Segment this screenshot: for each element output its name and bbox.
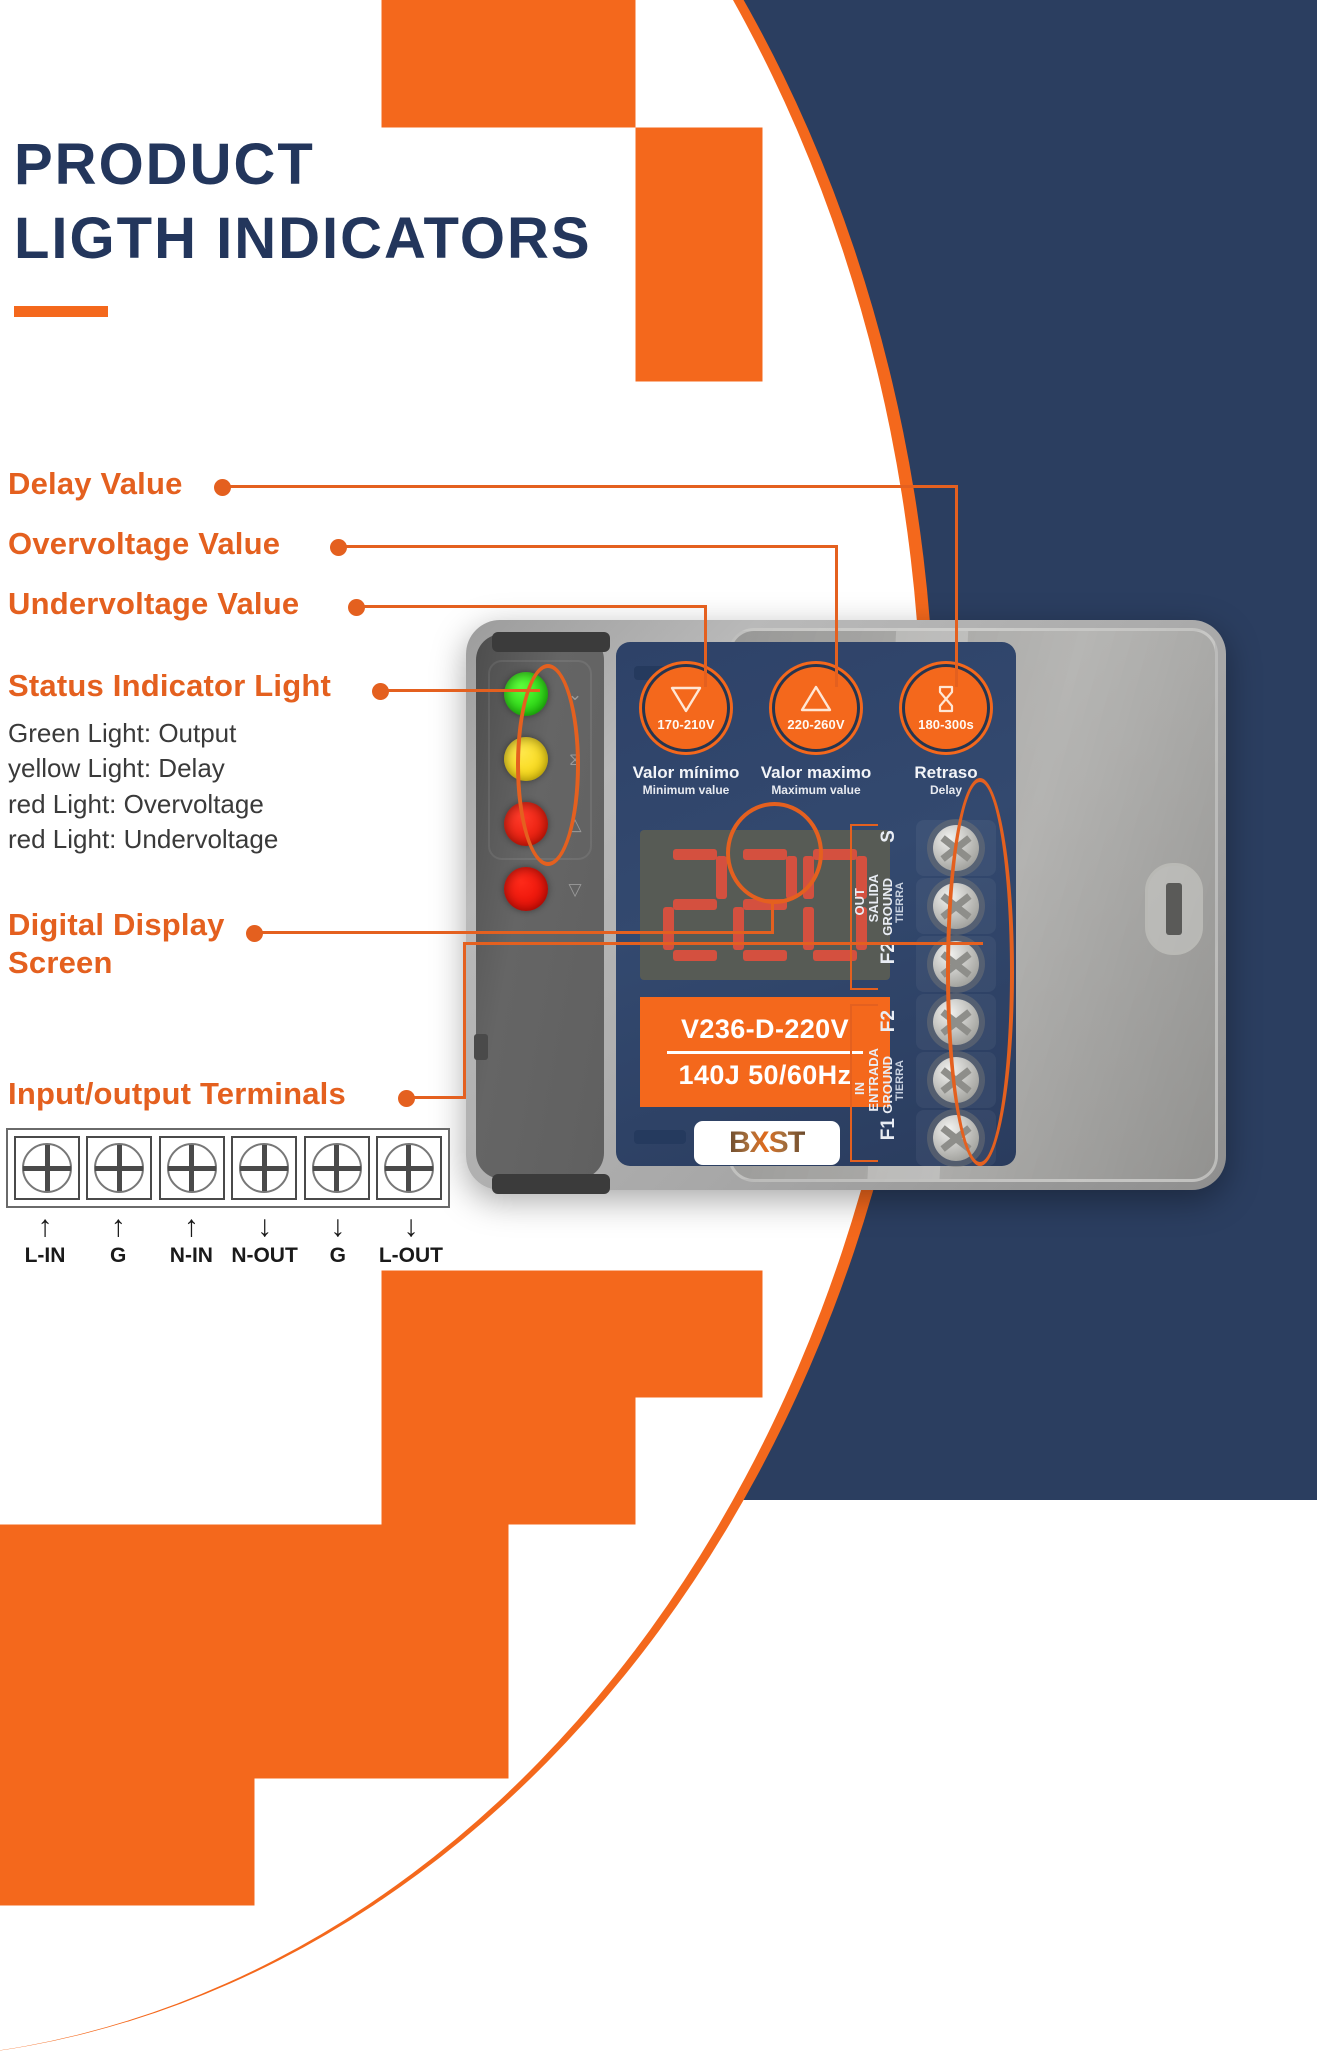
badge-value: 180-300s — [918, 717, 974, 732]
leader-dot-overvoltage — [330, 539, 347, 556]
terminal-arrow-column: ↑ N-IN — [158, 1212, 224, 1268]
arrow-down-icon: ↓ — [257, 1212, 272, 1242]
terminal-label: N-OUT — [231, 1244, 298, 1268]
device-clip-top — [492, 632, 610, 652]
leader-line-status-horizontal — [380, 689, 540, 692]
badge-title-en: Maximum value — [760, 783, 872, 797]
terminal-label: N-IN — [170, 1244, 213, 1268]
arrow-up-icon: ↑ — [184, 1212, 199, 1242]
leader-dot-terminals — [398, 1090, 415, 1107]
leader-line-display-vertical — [771, 900, 774, 934]
terminal-screw-slot-vertical — [406, 1145, 411, 1191]
badge-title-es: Valor mínimo — [630, 763, 742, 783]
terminal-screw-cell — [14, 1136, 80, 1200]
leader-dot-status — [372, 683, 389, 700]
leader-line-overvoltage-horizontal — [338, 545, 838, 548]
badge-ring: 180-300s — [902, 664, 990, 752]
terminal-arrow-column: ↓ L-OUT — [378, 1212, 444, 1268]
terminal-label: L-IN — [25, 1244, 66, 1268]
annotation-ellipse-screws — [946, 778, 1014, 1166]
model-separator — [667, 1051, 863, 1054]
leader-line-undervoltage-vertical — [704, 605, 707, 687]
led-red-undervoltage — [504, 867, 548, 911]
terminal-arrow-row: ↑ L-IN ↑ G ↑ N-IN ↓ N-OUT ↓ G ↓ L-OUT — [6, 1212, 450, 1268]
terminal-screw-slot-vertical — [117, 1145, 122, 1191]
leader-dot-display — [246, 925, 263, 942]
up-triangle-icon — [799, 684, 833, 714]
page-title: PRODUCT LIGTH INDICATORS — [14, 128, 592, 317]
spec-badge-maximum-value: 220-260V Valor maximo Maximum value — [760, 664, 872, 797]
in-pin-f1-label: F1 — [878, 1118, 900, 1140]
terminal-screw-slot-vertical — [189, 1145, 194, 1191]
arrow-down-icon: ↓ — [330, 1212, 345, 1242]
badge-value: 170-210V — [657, 717, 714, 732]
terminal-screw-cell — [86, 1136, 152, 1200]
leader-line-delay-horizontal — [222, 485, 958, 488]
annotation-ellipse-display — [726, 802, 823, 904]
callout-overvoltage-value: Overvoltage Value — [8, 526, 280, 562]
voltage-protector-device: ⌄ ⧖ △ ▽ 170-210V Valor mínimo Minimum va… — [466, 620, 1226, 1190]
badge-title-en: Minimum value — [630, 783, 742, 797]
terminal-block-housing — [6, 1128, 450, 1208]
badge-ring: 220-260V — [772, 664, 860, 752]
leader-line-undervoltage-horizontal — [356, 605, 707, 608]
callout-digital-display-line-2: Screen — [8, 944, 225, 982]
annotation-ellipse-leds — [516, 664, 580, 866]
status-desc-line-1: Green Light: Output — [8, 716, 278, 751]
brand-logo-text: BXST — [729, 1126, 805, 1160]
arrow-up-icon: ↑ — [111, 1212, 126, 1242]
status-desc-line-3: red Light: Overvoltage — [8, 787, 278, 822]
leader-line-overvoltage-vertical — [835, 545, 838, 687]
leader-line-terminals-seg2 — [463, 942, 466, 1099]
brand-logo-plate: BXST — [694, 1121, 840, 1165]
arrow-down-icon: ↓ — [403, 1212, 418, 1242]
terminal-screw-slot-vertical — [262, 1145, 267, 1191]
in-group-en-label: IN — [852, 1082, 867, 1095]
in-ground-es-label: TIERRA — [894, 1060, 906, 1101]
terminal-screw-slot-vertical — [45, 1145, 50, 1191]
triangle-down-icon: ▽ — [562, 877, 588, 903]
status-indicator-description: Green Light: Output yellow Light: Delay … — [8, 716, 278, 857]
in-pin-f2-label: F2 — [878, 1010, 900, 1032]
leader-dot-undervoltage — [348, 599, 365, 616]
terminal-label: G — [110, 1244, 126, 1268]
out-ground-en-label: GROUND — [880, 878, 895, 936]
out-ground-es-label: TIERRA — [894, 882, 906, 923]
badge-ring: 170-210V — [642, 664, 730, 752]
badge-title-es: Valor maximo — [760, 763, 872, 783]
terminal-label: G — [330, 1244, 346, 1268]
title-line-2: LIGTH INDICATORS — [14, 202, 592, 276]
callout-digital-display-screen: Digital Display Screen — [8, 906, 225, 982]
terminal-arrow-column: ↓ N-OUT — [232, 1212, 298, 1268]
leader-line-delay-vertical — [955, 485, 958, 687]
callout-status-indicator-light: Status Indicator Light — [8, 668, 331, 704]
terminal-screw-cell — [231, 1136, 297, 1200]
hourglass-icon — [929, 684, 963, 714]
device-clip-bottom — [492, 1174, 610, 1194]
title-underline-rule — [14, 306, 108, 317]
terminal-label: L-OUT — [379, 1244, 443, 1268]
terminal-block-diagram: ↑ L-IN ↑ G ↑ N-IN ↓ N-OUT ↓ G ↓ L-OUT — [6, 1128, 450, 1268]
leader-line-terminals-seg1 — [406, 1096, 466, 1099]
callout-input-output-terminals: Input/output Terminals — [8, 1076, 346, 1112]
terminal-screw-cell — [376, 1136, 442, 1200]
status-desc-line-2: yellow Light: Delay — [8, 751, 278, 786]
out-group-es-label: SALIDA — [866, 874, 881, 922]
callout-digital-display-line-1: Digital Display — [8, 906, 225, 944]
badge-value: 220-260V — [787, 717, 844, 732]
terminal-screw-cell — [159, 1136, 225, 1200]
arrow-up-icon: ↑ — [38, 1212, 53, 1242]
in-group-es-label: ENTRADA — [866, 1048, 881, 1112]
out-pin-f2-label: F2 — [878, 942, 900, 964]
model-rating: 140J 50/60Hz — [679, 1060, 852, 1091]
out-pin-s-label: S — [878, 830, 900, 843]
cover-latch-icon[interactable] — [1145, 863, 1203, 955]
terminal-screw-cell — [304, 1136, 370, 1200]
callout-delay-value: Delay Value — [8, 466, 183, 502]
leader-dot-delay — [214, 479, 231, 496]
faceplate-tab-bottom — [634, 1130, 686, 1144]
leader-line-terminals-seg3 — [463, 942, 983, 945]
terminal-arrow-column: ↑ G — [85, 1212, 151, 1268]
model-number: V236-D-220V — [681, 1014, 849, 1045]
down-triangle-icon — [669, 684, 703, 714]
status-desc-line-4: red Light: Undervoltage — [8, 822, 278, 857]
spec-badge-delay: 180-300s Retraso Delay — [890, 664, 1002, 797]
out-group-en-label: OUT — [852, 888, 867, 915]
leader-line-display-horizontal — [254, 931, 774, 934]
callout-undervoltage-value: Undervoltage Value — [8, 586, 299, 622]
terminal-screw-slot-vertical — [334, 1145, 339, 1191]
spec-badge-minimum-value: 170-210V Valor mínimo Minimum value — [630, 664, 742, 797]
title-line-1: PRODUCT — [14, 128, 592, 202]
device-side-notch — [474, 1034, 488, 1060]
in-ground-en-label: GROUND — [880, 1056, 895, 1114]
spec-badge-row: 170-210V Valor mínimo Minimum value 220-… — [630, 664, 1002, 797]
terminal-arrow-column: ↑ L-IN — [12, 1212, 78, 1268]
terminal-arrow-column: ↓ G — [305, 1212, 371, 1268]
